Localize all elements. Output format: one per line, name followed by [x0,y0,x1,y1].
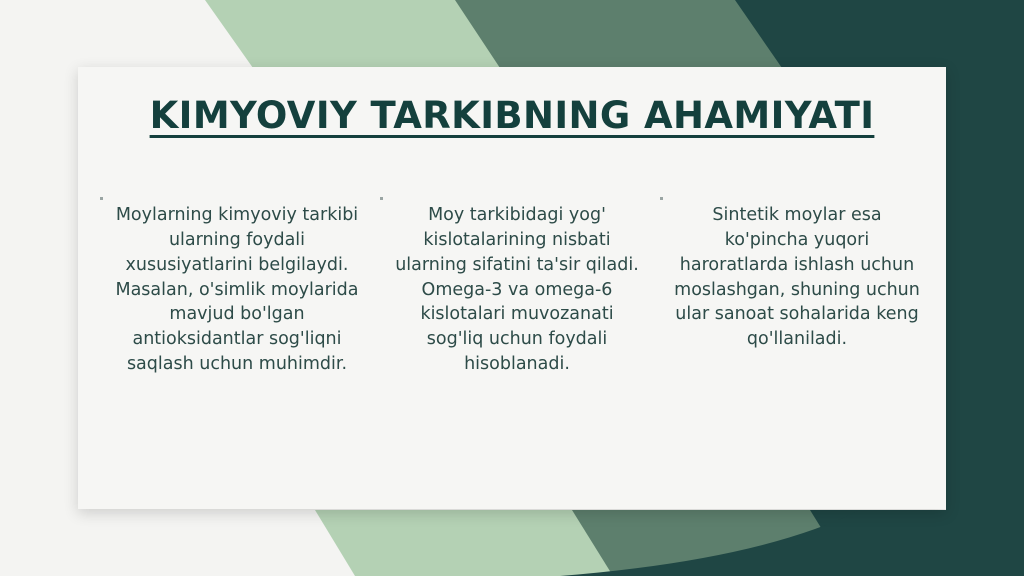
square-bullet-icon [660,197,663,200]
right-dark-teal-panel [946,0,1024,576]
presentation-slide: KIMYOVIY TARKIBNING AHAMIYATI Moylarning… [0,0,1024,576]
square-bullet-icon [380,197,383,200]
text-column-3: Sintetik moylar esa ko'pincha yuqori har… [652,186,932,370]
column-2-paragraph: Moy tarkibidagi yog' kislotalarining nis… [390,203,644,377]
column-3-paragraph: Sintetik moylar esa ko'pincha yuqori har… [670,203,924,352]
text-column-2: Moy tarkibidagi yog' kislotalarining nis… [372,186,652,395]
page-title: KIMYOVIY TARKIBNING AHAMIYATI [78,67,946,138]
text-column-1: Moylarning kimyoviy tarkibi ularning foy… [92,186,372,395]
column-1-paragraph: Moylarning kimyoviy tarkibi ularning foy… [110,203,364,377]
content-card: KIMYOVIY TARKIBNING AHAMIYATI Moylarning… [78,67,946,509]
columns-container: Moylarning kimyoviy tarkibi ularning foy… [78,138,946,395]
square-bullet-icon [100,197,103,200]
